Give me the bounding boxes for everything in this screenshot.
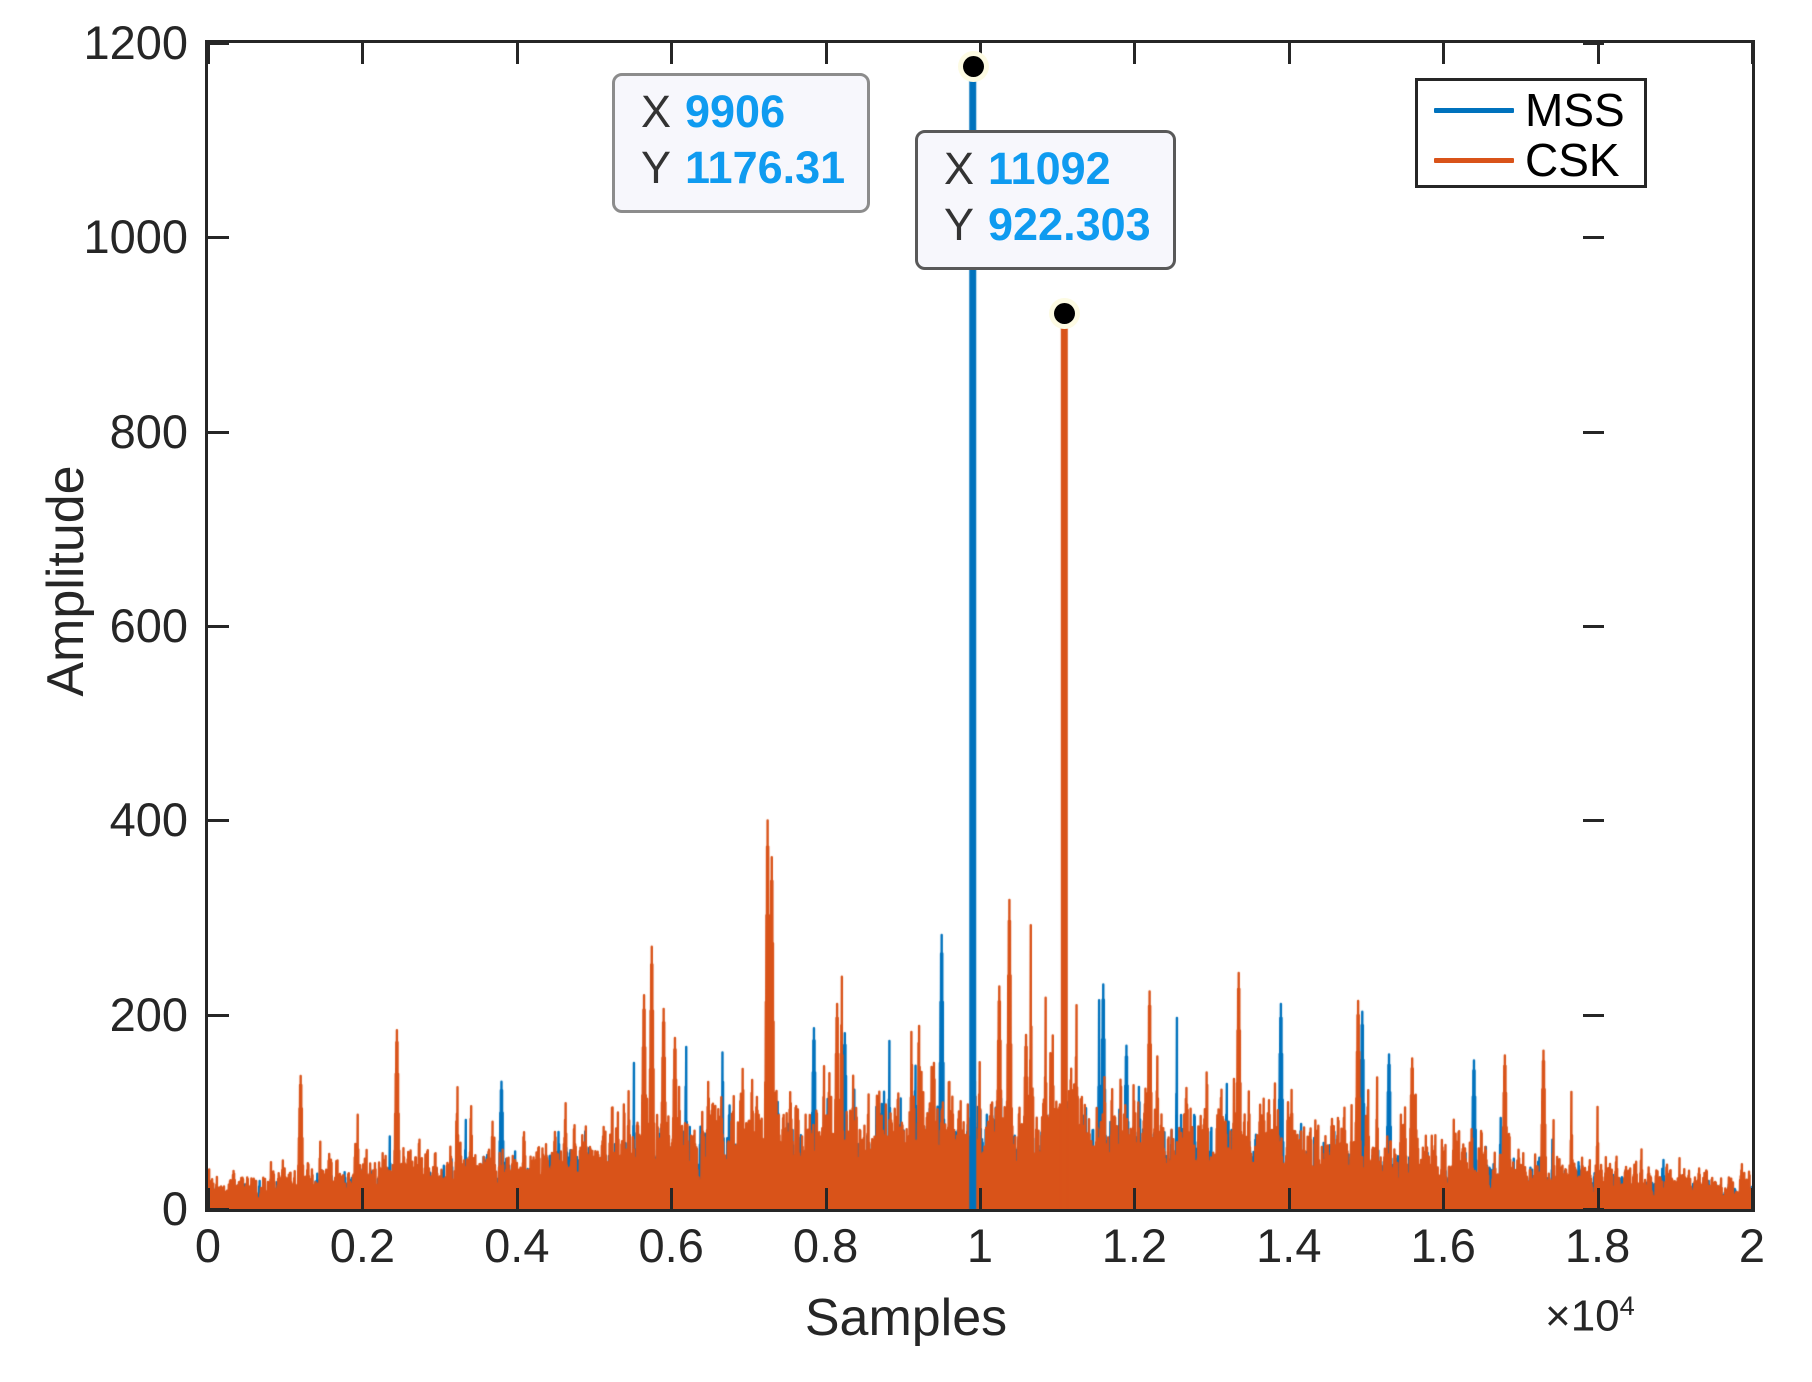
x-tick-mark	[516, 1188, 519, 1209]
datatip-mss-y-value: 1176.31	[685, 142, 845, 194]
x-tick-mark	[1288, 1188, 1291, 1209]
y-tick-label: 1200	[83, 19, 188, 66]
x-tick-label: 1.8	[1565, 1222, 1630, 1269]
x-tick-mark	[1597, 1188, 1600, 1209]
x-axis-exponent: ×104	[1545, 1290, 1635, 1342]
x-tick-mark	[979, 1188, 982, 1209]
legend-entry-mss[interactable]: MSS	[1418, 87, 1644, 133]
legend-label-csk: CSK	[1525, 137, 1620, 183]
datatip-csk-y-line: Y 922.303	[944, 199, 1151, 255]
x-tick-label: 2	[1739, 1222, 1765, 1269]
x-tick-label: 0	[195, 1222, 221, 1269]
x-tick-mark	[1133, 1188, 1136, 1209]
y-tick-label: 600	[110, 602, 188, 649]
y-tick-label: 400	[110, 796, 188, 843]
y-tick-mark	[208, 1208, 229, 1211]
x-tick-mark	[670, 1188, 673, 1209]
y-tick-mark	[1583, 236, 1604, 239]
datatip-csk-peak[interactable]: X 11092 Y 922.303	[915, 130, 1176, 270]
x-tick-mark	[670, 43, 673, 64]
x-tick-mark	[1288, 43, 1291, 64]
x-tick-label: 0.6	[639, 1222, 704, 1269]
datatip-mss-x-value: 9906	[685, 86, 785, 138]
legend[interactable]: MSS CSK	[1415, 78, 1647, 188]
y-tick-label: 800	[110, 408, 188, 455]
x-tick-label: 1	[967, 1222, 993, 1269]
x-tick-label: 1.6	[1411, 1222, 1476, 1269]
datatip-csk-y-key: Y	[944, 199, 988, 251]
datatip-mss-x-key: X	[641, 86, 685, 138]
x-tick-mark	[825, 1188, 828, 1209]
datatip-mss-peak[interactable]: X 9906 Y 1176.31	[612, 73, 870, 213]
datatip-mss-x-line: X 9906	[641, 86, 845, 142]
datatip-marker-csk[interactable]	[1054, 303, 1075, 324]
x-tick-mark	[207, 43, 210, 64]
x-tick-mark	[825, 43, 828, 64]
y-tick-label: 1000	[83, 213, 188, 260]
y-tick-mark	[208, 819, 229, 822]
legend-swatch-mss	[1434, 108, 1514, 113]
x-tick-label: 1.2	[1102, 1222, 1167, 1269]
x-tick-mark	[1133, 43, 1136, 64]
x-tick-mark	[1751, 1188, 1754, 1209]
x-tick-label: 0.2	[330, 1222, 395, 1269]
legend-label-mss: MSS	[1525, 87, 1625, 133]
y-tick-mark	[1583, 431, 1604, 434]
y-tick-mark	[1583, 1014, 1604, 1017]
y-tick-mark	[1583, 819, 1604, 822]
y-tick-mark	[1583, 1208, 1604, 1211]
y-tick-mark	[1583, 42, 1604, 45]
y-tick-mark	[1583, 625, 1604, 628]
legend-swatch-csk	[1434, 158, 1514, 163]
x-tick-label: 0.4	[484, 1222, 549, 1269]
x-axis-label: Samples	[0, 1288, 1812, 1348]
x-tick-mark	[1442, 1188, 1445, 1209]
y-tick-mark	[208, 1014, 229, 1017]
x-axis-exponent-base: ×10	[1545, 1292, 1620, 1341]
x-tick-mark	[361, 1188, 364, 1209]
x-tick-mark	[361, 43, 364, 64]
y-tick-mark	[208, 42, 229, 45]
y-tick-label: 0	[162, 1185, 188, 1232]
y-tick-label: 200	[110, 991, 188, 1038]
datatip-csk-x-key: X	[944, 143, 988, 195]
datatip-mss-y-line: Y 1176.31	[641, 142, 845, 198]
x-tick-label: 0.8	[793, 1222, 858, 1269]
legend-entry-csk[interactable]: CSK	[1418, 137, 1644, 183]
x-tick-label: 1.4	[1256, 1222, 1321, 1269]
figure-window: 020040060080010001200 00.20.40.60.811.21…	[0, 0, 1812, 1382]
datatip-csk-x-value: 11092	[988, 143, 1111, 195]
x-tick-mark	[516, 43, 519, 64]
datatip-marker-mss[interactable]	[963, 56, 984, 77]
y-tick-mark	[208, 431, 229, 434]
x-tick-mark	[207, 1188, 210, 1209]
x-axis-exponent-power: 4	[1620, 1290, 1635, 1321]
y-tick-mark	[208, 625, 229, 628]
y-tick-mark	[208, 236, 229, 239]
x-tick-mark	[1442, 43, 1445, 64]
datatip-mss-y-key: Y	[641, 142, 685, 194]
x-tick-mark	[1751, 43, 1754, 64]
x-tick-mark	[1597, 43, 1600, 64]
y-axis-label: Amplitude	[36, 0, 96, 1167]
datatip-csk-x-line: X 11092	[944, 143, 1151, 199]
datatip-csk-y-value: 922.303	[988, 199, 1151, 251]
